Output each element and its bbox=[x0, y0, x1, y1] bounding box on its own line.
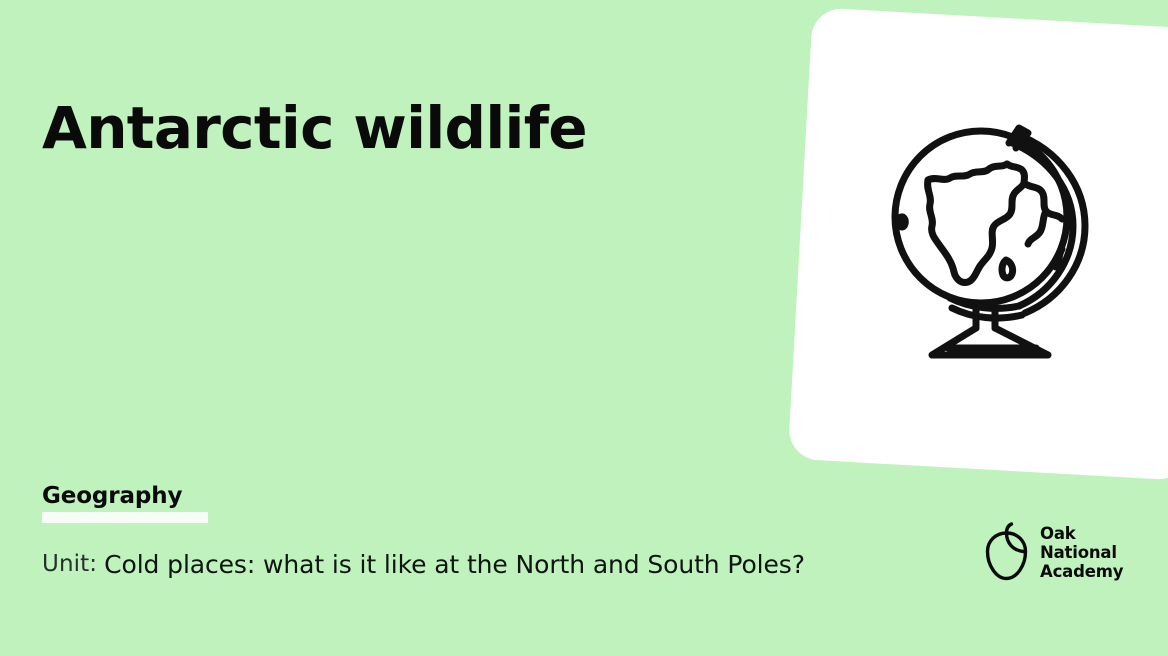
subject-underline bbox=[42, 512, 208, 523]
logo-wordmark: Oak National Academy bbox=[1040, 524, 1123, 581]
unit-label: Unit: bbox=[42, 546, 97, 583]
logo-line-national: National bbox=[1040, 543, 1123, 562]
subject-block: Geography bbox=[42, 483, 862, 510]
unit-row: Unit: Cold places: what is it like at th… bbox=[42, 546, 842, 583]
globe-icon bbox=[888, 112, 1103, 362]
unit-title: Cold places: what is it like at the Nort… bbox=[104, 546, 816, 583]
oak-national-academy-logo: Oak National Academy bbox=[983, 521, 1123, 583]
subject-label: Geography bbox=[42, 483, 182, 510]
page-title: Antarctic wildlife bbox=[42, 97, 587, 160]
logo-line-academy: Academy bbox=[1040, 562, 1123, 581]
logo-line-oak: Oak bbox=[1040, 524, 1123, 543]
acorn-icon bbox=[983, 521, 1029, 583]
lesson-title-slide: Antarctic wildlife Geography Unit: Cold … bbox=[0, 0, 1168, 656]
